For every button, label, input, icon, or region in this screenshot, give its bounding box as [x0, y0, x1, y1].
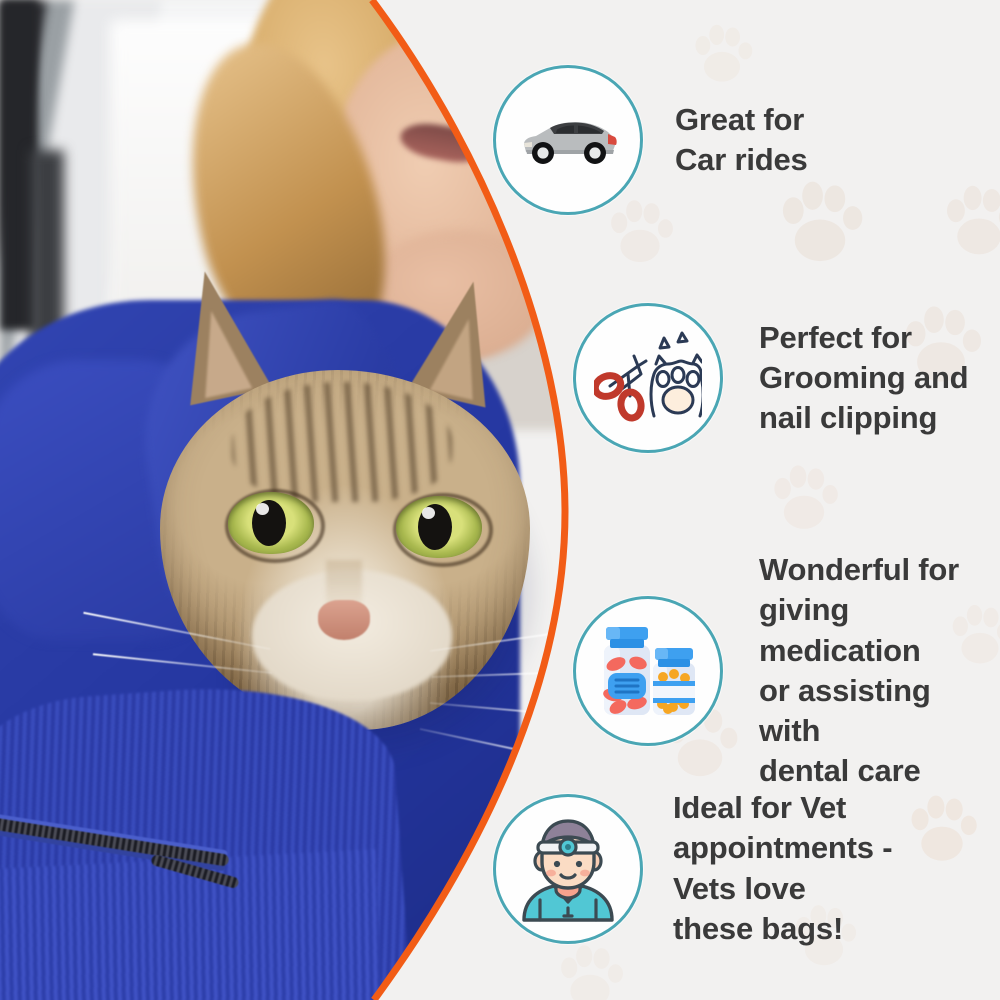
veterinarian-icon	[518, 816, 618, 922]
infographic-banner: Great for Car rides	[0, 0, 1000, 1000]
feature-grooming-label: Perfect for Grooming and nail clipping	[759, 318, 968, 439]
medicine-bottles-icon-circle	[573, 596, 723, 746]
feature-vet-appointments[interactable]: Ideal for Vet appointments - Vets love t…	[493, 788, 892, 949]
medicine-bottles-icon	[594, 619, 702, 723]
feature-car-rides[interactable]: Great for Car rides	[493, 65, 808, 215]
veterinarian-icon-circle	[493, 794, 643, 944]
car-icon-circle	[493, 65, 643, 215]
paw-print-icon	[940, 180, 1000, 262]
feature-medication-label: Wonderful for giving medication or assis…	[759, 550, 1000, 792]
car-icon	[516, 110, 620, 170]
paw-print-icon	[768, 460, 840, 536]
feature-grooming[interactable]: Perfect for Grooming and nail clipping	[573, 303, 968, 453]
feature-vet-appointments-label: Ideal for Vet appointments - Vets love t…	[673, 788, 892, 949]
paw-print-icon	[905, 790, 979, 868]
nail-clipper-paw-icon	[594, 330, 702, 426]
nail-clipper-paw-icon-circle	[573, 303, 723, 453]
feature-medication[interactable]: Wonderful for giving medication or assis…	[573, 550, 1000, 792]
feature-car-rides-label: Great for Car rides	[675, 100, 808, 181]
